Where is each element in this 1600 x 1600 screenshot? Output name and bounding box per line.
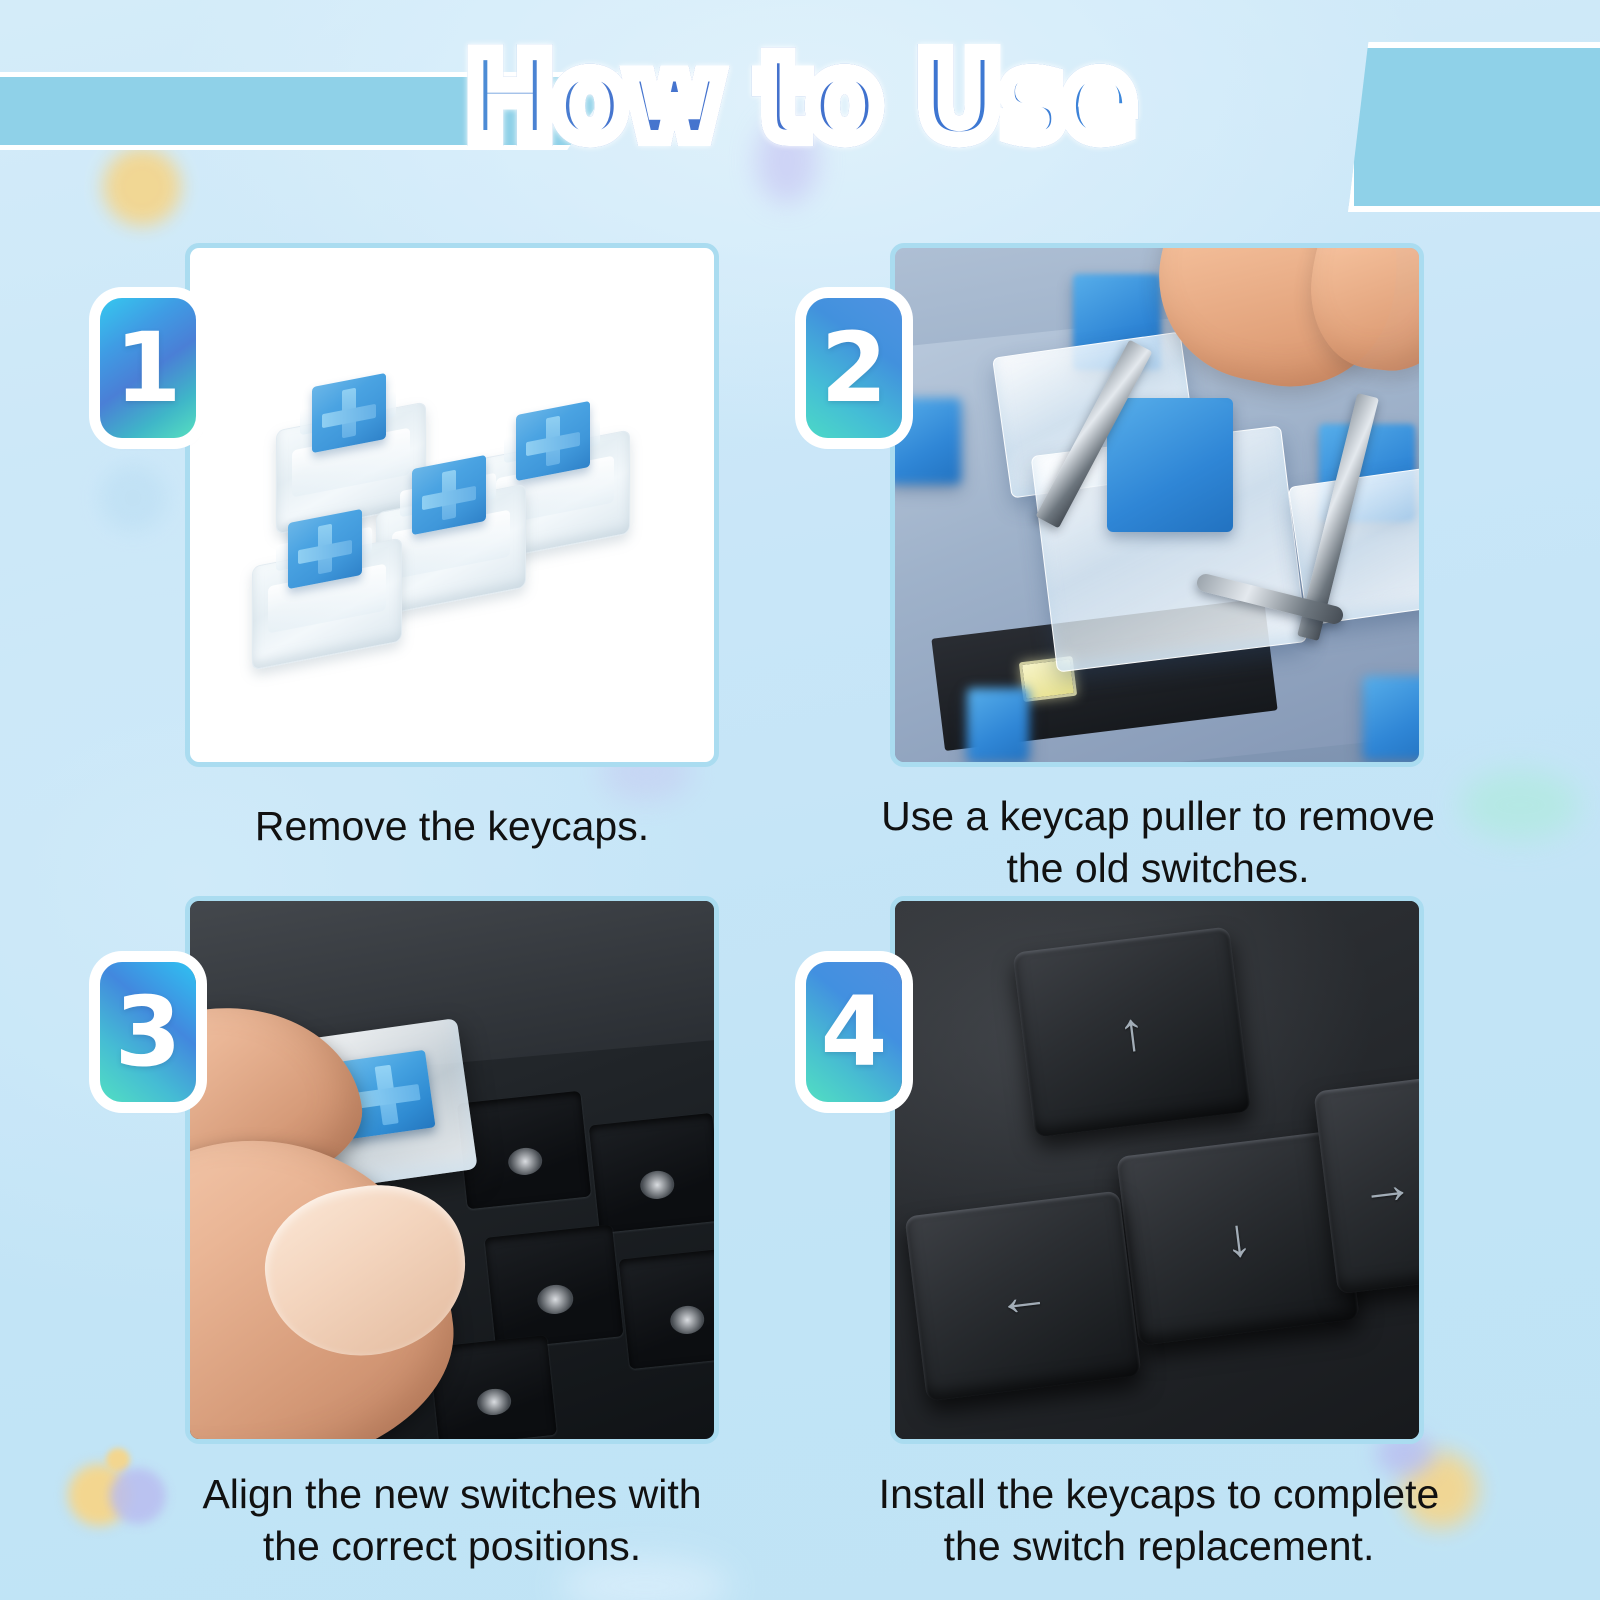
step-caption-1: Remove the keycaps. <box>185 800 719 852</box>
empty-socket-2 <box>589 1113 719 1233</box>
step-number-badge-2: 2 <box>806 298 902 438</box>
decor-dot-yellow-bottom-left <box>68 1464 130 1526</box>
empty-socket-3 <box>484 1225 623 1350</box>
empty-socket-1 <box>457 1091 591 1209</box>
left-arrow-icon: ← <box>993 1266 1053 1326</box>
step-caption-4-line-1: Install the keycaps to complete <box>876 1468 1442 1520</box>
switch-illustration-group <box>190 248 714 762</box>
step-photo-1 <box>185 243 719 767</box>
down-arrow-icon: ↓ <box>1221 1210 1254 1267</box>
decor-dot-mint-panel2 <box>1460 770 1580 840</box>
step-caption-2-line-2: the old switches. <box>880 842 1436 894</box>
step-number-badge-1: 1 <box>100 298 196 438</box>
step-caption-3-line-1: Align the new switches with <box>172 1468 732 1520</box>
step-photo-4: ↑ ↓ ← → <box>890 896 1424 1444</box>
decor-dot-lavender-bottom-left <box>110 1468 166 1524</box>
background-switch-4 <box>1363 676 1424 760</box>
step-caption-4: Install the keycaps to complete the swit… <box>876 1468 1442 1573</box>
step-caption-2-line-1: Use a keycap puller to remove <box>880 790 1436 842</box>
step-number-badge-4: 4 <box>806 962 902 1102</box>
step-caption-3-line-2: the correct positions. <box>172 1520 732 1572</box>
page-title: How to Use <box>0 36 1600 160</box>
step-number-badge-3: 3 <box>100 962 196 1102</box>
step-caption-3: Align the new switches with the correct … <box>172 1468 732 1573</box>
decor-dot-yellow-small-bottom-left <box>106 1448 130 1472</box>
step-photo-2 <box>890 243 1424 767</box>
up-arrow-icon: ↑ <box>1115 1004 1148 1061</box>
page-header: How to Use <box>0 0 1600 220</box>
right-arrow-icon: → <box>1356 1156 1416 1216</box>
infographic-page: How to Use 1 <box>0 0 1600 1600</box>
keycap-up-arrow: ↑ <box>1012 926 1251 1137</box>
background-switch-5 <box>967 688 1029 762</box>
lifted-switch-stem <box>1107 398 1233 532</box>
keycap-left-arrow: ← <box>904 1191 1141 1402</box>
decor-dot-pale-blue-left <box>100 465 166 531</box>
step-caption-2: Use a keycap puller to remove the old sw… <box>880 790 1436 895</box>
step-photo-3 <box>185 896 719 1444</box>
step-caption-4-line-2: the switch replacement. <box>876 1520 1442 1572</box>
empty-socket-4 <box>619 1247 719 1369</box>
